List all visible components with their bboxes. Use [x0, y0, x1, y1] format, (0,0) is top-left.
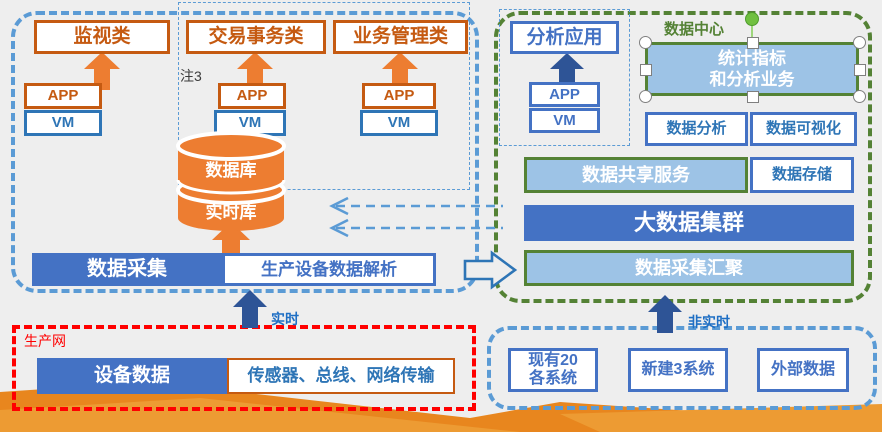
existing-systems-line1: 现有20 [528, 352, 578, 370]
up-arrow-icon-realtime [233, 290, 267, 328]
selection-handle-n[interactable] [747, 37, 759, 49]
existing-systems-line2: 各系统 [529, 370, 577, 388]
analysis-app-title-box[interactable]: 分析应用 [510, 21, 619, 54]
selection-handle-se[interactable] [853, 90, 866, 103]
selection-handle-sw[interactable] [639, 90, 652, 103]
analysis-vm-box[interactable]: VM [529, 108, 600, 133]
existing-systems-box[interactable]: 现有20 各系统 [508, 348, 598, 392]
selection-handle-ne[interactable] [853, 36, 866, 49]
selected-shape-line1: 统计指标 [718, 48, 786, 69]
device-data-box[interactable]: 设备数据 [37, 358, 227, 394]
nonrealtime-label: 非实时 [688, 312, 730, 332]
app-box-1[interactable]: APP [218, 83, 286, 109]
data-center-label: 数据中心 [664, 18, 724, 39]
production-network-label: 生产网 [24, 331, 66, 351]
realtime-label: 实时 [271, 309, 299, 329]
analysis-app-box[interactable]: APP [529, 82, 600, 107]
data-collection-box[interactable]: 数据采集 [32, 253, 222, 286]
selection-handle-s[interactable] [747, 91, 759, 103]
selection-handle-e[interactable] [854, 64, 866, 76]
device-data-parse-box[interactable]: 生产设备数据解析 [222, 253, 436, 286]
selected-statistics-shape[interactable]: 统计指标 和分析业务 [645, 42, 859, 96]
app-title-box-2[interactable]: 业务管理类 [333, 20, 468, 54]
app-title-box-0[interactable]: 监视类 [34, 20, 170, 54]
big-data-cluster-box[interactable]: 大数据集群 [524, 205, 854, 241]
selection-handle-w[interactable] [640, 64, 652, 76]
data-storage-box[interactable]: 数据存储 [750, 157, 854, 193]
data-collection-aggregation-box[interactable]: 数据采集汇聚 [524, 250, 854, 286]
selected-shape-line2: 和分析业务 [710, 69, 795, 90]
vm-box-0[interactable]: VM [24, 110, 102, 136]
selection-handle-nw[interactable] [639, 36, 652, 49]
external-data-box[interactable]: 外部数据 [757, 348, 849, 392]
data-visualization-box[interactable]: 数据可视化 [750, 112, 857, 146]
data-sharing-service-box[interactable]: 数据共享服务 [524, 157, 748, 193]
diagram-canvas: 监视类 APP VM 交易事务类 APP VM 注3 业务管理类 APP VM … [0, 0, 882, 432]
database-cylinder[interactable]: 数据库 实时库 [172, 130, 290, 232]
app-box-0[interactable]: APP [24, 83, 102, 109]
up-arrow-icon-nonrealtime [648, 295, 682, 333]
app-title-box-1[interactable]: 交易事务类 [186, 20, 326, 54]
sensor-bus-network-box[interactable]: 传感器、总线、网络传输 [227, 358, 455, 394]
app-box-2[interactable]: APP [362, 83, 436, 109]
vm-box-2[interactable]: VM [360, 110, 438, 136]
bidirectional-dashed-arrow [318, 196, 503, 244]
data-analysis-box[interactable]: 数据分析 [645, 112, 748, 146]
note-label: 注3 [180, 66, 202, 86]
right-block-arrow-icon [464, 252, 516, 288]
new-systems-box[interactable]: 新建3系统 [628, 348, 728, 392]
rotation-handle[interactable] [745, 12, 759, 26]
